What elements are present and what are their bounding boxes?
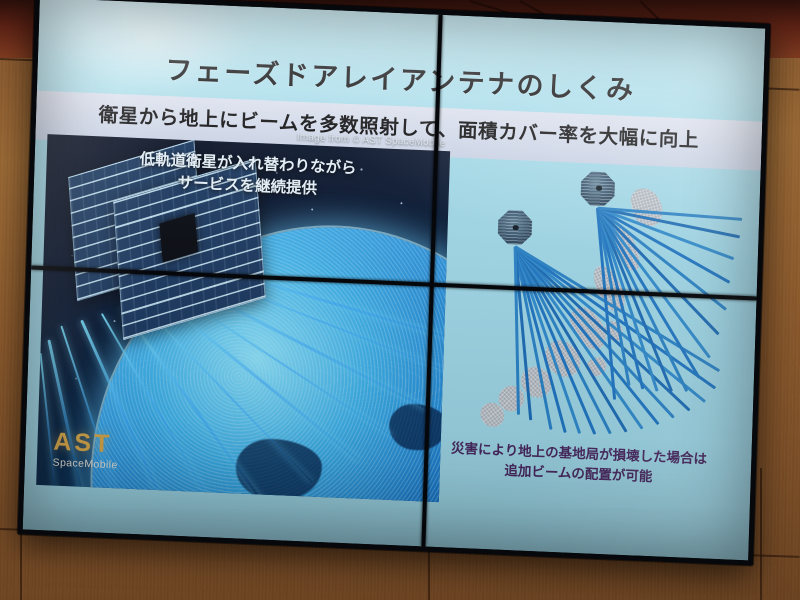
room-photo: フェーズドアレイアンテナのしくみ 衛星から地上にビームを多数照射して、面積カバー… <box>0 0 800 600</box>
video-wall-display[interactable]: フェーズドアレイアンテナのしくみ 衛星から地上にビームを多数照射して、面積カバー… <box>18 0 771 566</box>
ast-satellite-image: 低軌道衛星が入れ替わりながら サービスを継続提供 AST SpaceMobile <box>36 134 451 502</box>
satellite-node-2 <box>580 171 615 206</box>
satellite-node-1 <box>498 210 533 245</box>
ast-spacemobile-logo: AST SpaceMobile <box>52 429 118 471</box>
logo-wordmark: AST <box>53 429 119 457</box>
wall-seam-vertical <box>20 528 22 600</box>
satellite-core <box>596 186 602 191</box>
display-bezel: フェーズドアレイアンテナのしくみ 衛星から地上にビームを多数照射して、面積カバー… <box>23 0 766 560</box>
wall-seam-vertical <box>760 468 762 600</box>
satellite-core <box>513 225 519 230</box>
